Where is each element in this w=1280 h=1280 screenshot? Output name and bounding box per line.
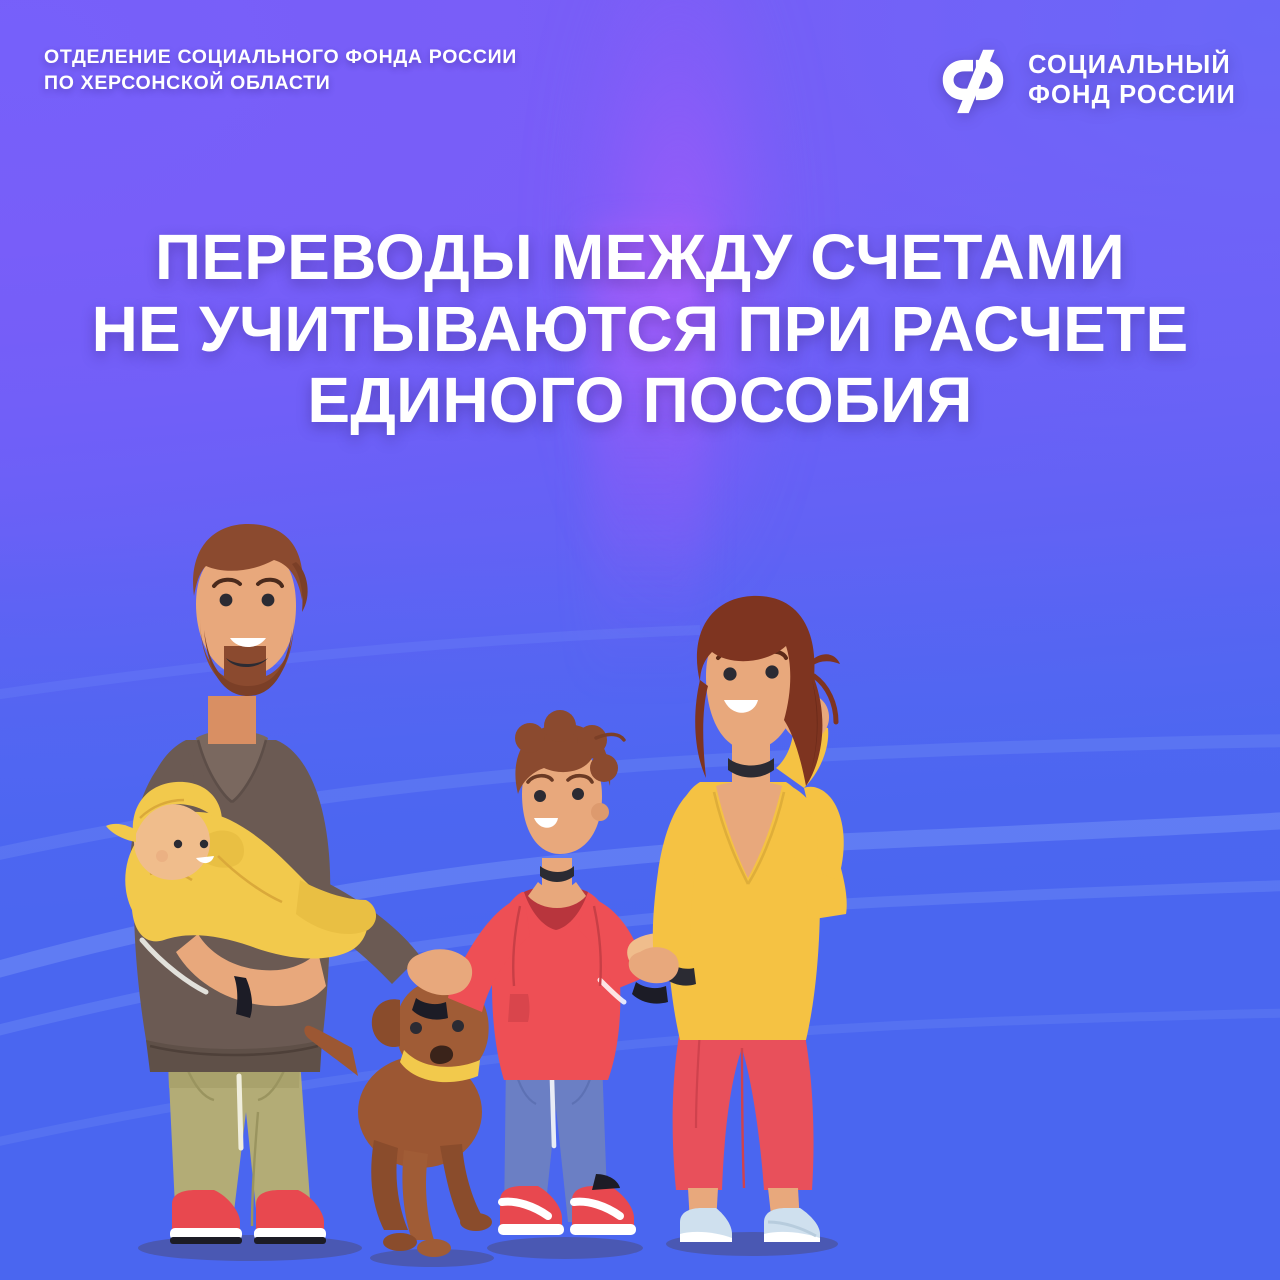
organization-title: ОТДЕЛЕНИЕ СОЦИАЛЬНОГО ФОНДА РОССИИ ПО ХЕ… <box>44 44 517 96</box>
family-illustration <box>0 500 1280 1280</box>
mother-figure <box>629 596 847 1242</box>
page-title: ПЕРЕВОДЫ МЕЖДУ СЧЕТАМИ НЕ УЧИТЫВАЮТСЯ ПР… <box>0 222 1280 437</box>
brand-name: СОЦИАЛЬНЫЙ ФОНД РОССИИ <box>1028 50 1236 110</box>
header: ОТДЕЛЕНИЕ СОЦИАЛЬНОГО ФОНДА РОССИИ ПО ХЕ… <box>0 0 1280 130</box>
sfr-monogram-icon <box>937 44 1009 116</box>
child-figure <box>448 710 648 1235</box>
child-head <box>515 710 624 854</box>
ground-shadows <box>138 1232 838 1267</box>
father-head <box>193 524 308 696</box>
brand-lockup: СОЦИАЛЬНЫЙ ФОНД РОССИИ <box>937 44 1236 116</box>
poster: ОТДЕЛЕНИЕ СОЦИАЛЬНОГО ФОНДА РОССИИ ПО ХЕ… <box>0 0 1280 1280</box>
